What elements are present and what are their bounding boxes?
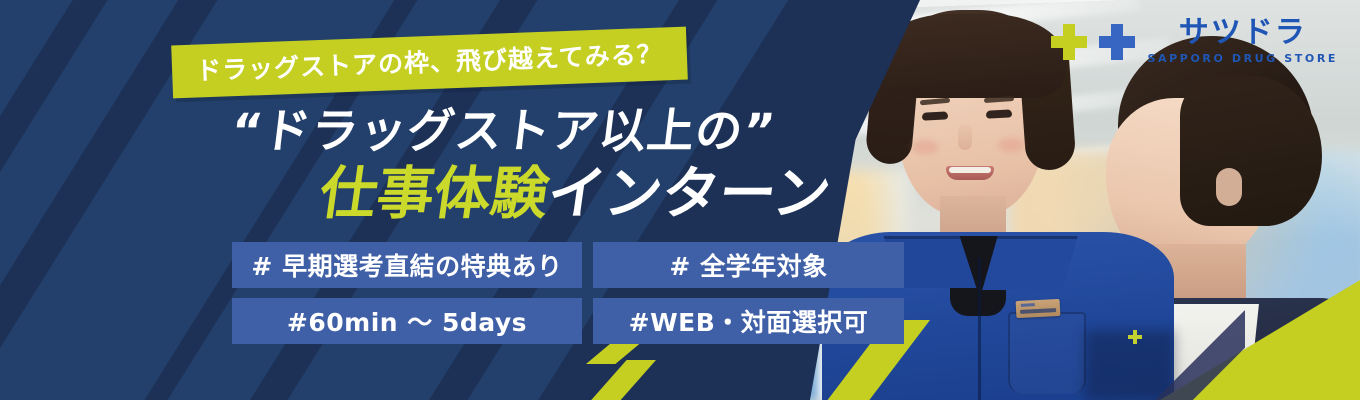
headline-highlight: 仕事体験: [315, 161, 552, 227]
tag-list: # 早期選考直結の特典あり # 全学年対象 #60min 〜 5days #WE…: [232, 242, 904, 344]
tag-format[interactable]: #WEB・対面選択可: [593, 298, 904, 344]
tag-duration[interactable]: #60min 〜 5days: [232, 298, 582, 344]
tag-early-selection[interactable]: # 早期選考直結の特典あり: [232, 242, 582, 288]
recruitment-banner: ドラッグストアの枠、飛び越えてみる？ “ドラッグストア以上の” 仕事体験インター…: [0, 0, 1360, 400]
cross-icon-blue: [1099, 24, 1135, 60]
tag-all-grades[interactable]: # 全学年対象: [593, 242, 904, 288]
headline-line-1: “ドラッグストア以上の”: [228, 92, 835, 161]
logo-name-jp: サツドラ: [1179, 18, 1307, 48]
logo-name-en: SAPPORO DRUG STORE: [1147, 52, 1338, 65]
tagline-text: ドラッグストアの枠、飛び越えてみる？: [195, 34, 663, 87]
headline: “ドラッグストア以上の” 仕事体験インターン: [232, 92, 830, 225]
headline-line-2-rest: インターン: [543, 161, 834, 227]
company-logo[interactable]: サツドラ SAPPORO DRUG STORE: [1051, 18, 1338, 65]
logo-wordmark: サツドラ SAPPORO DRUG STORE: [1147, 18, 1338, 65]
headline-line-2: 仕事体験インターン: [316, 165, 835, 225]
cross-icon-green: [1051, 24, 1087, 60]
